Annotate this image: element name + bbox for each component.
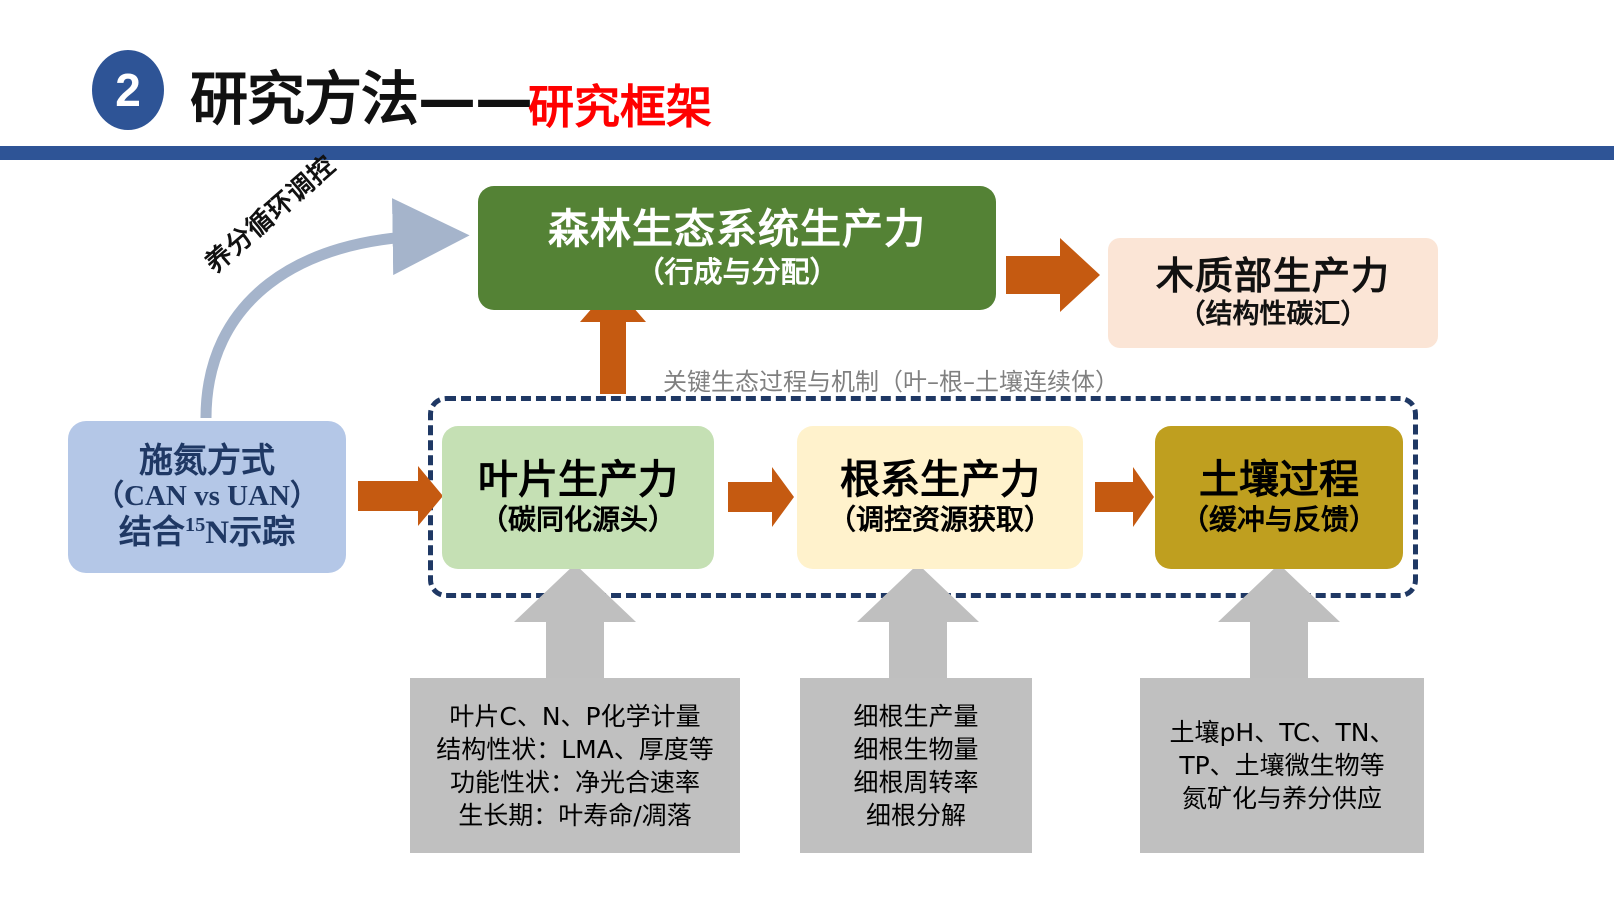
detail-soil-line-1: 土壤pH、TC、TN、 (1170, 716, 1395, 749)
detail-leaf-line-1: 叶片C、N、P化学计量 (449, 700, 700, 733)
isotope-superscript: 15 (185, 514, 205, 536)
detail-box-soil: 土壤pH、TC、TN、 TP、土壤微生物等 氮矿化与养分供应 (1140, 678, 1424, 853)
node-leaf-subtitle: （碳同化源头） (480, 504, 676, 535)
detail-leaf-line-2: 结构性状：LMA、厚度等 (436, 733, 714, 766)
node-xylem-title: 木质部生产力 (1156, 256, 1390, 297)
node-nitrogen-tracer: 结合15N示踪 (119, 514, 295, 551)
slide-canvas: 2 研究方法—— 研究框架 关键生态过程与机制（叶–根–土壤连续体） (0, 0, 1614, 906)
detail-box-leaf: 叶片C、N、P化学计量 结构性状：LMA、厚度等 功能性状：净光合速率 生长期：… (410, 678, 740, 853)
node-xylem-subtitle: （结构性碳汇） (1179, 300, 1368, 330)
detail-root-line-4: 细根分解 (866, 799, 966, 832)
header-divider (0, 146, 1614, 160)
detail-root-line-1: 细根生产量 (853, 700, 978, 733)
node-root-title: 根系生产力 (840, 459, 1040, 502)
node-root-subtitle: （调控资源获取） (828, 504, 1052, 535)
node-nitrogen-treatments: （CAN vs UAN） (95, 480, 319, 513)
node-ecosystem-subtitle: （行成与分配） (635, 256, 838, 288)
page-title: 研究方法—— 研究框架 (190, 52, 712, 136)
detail-soil-line-3: 氮矿化与养分供应 (1182, 782, 1382, 815)
nutrient-cycle-curve-arrow (206, 236, 430, 418)
key-process-group-label: 关键生态过程与机制（叶–根–土壤连续体） (663, 362, 1119, 397)
node-soil-subtitle: （缓冲与反馈） (1181, 504, 1377, 535)
detail-root-line-3: 细根周转率 (853, 766, 978, 799)
section-number-badge: 2 (92, 50, 164, 130)
node-nitrogen-title: 施氮方式 (139, 443, 275, 480)
arrow-ecosystem-to-xylem (1006, 238, 1100, 312)
node-leaf-title: 叶片生产力 (478, 459, 678, 502)
node-root-productivity[interactable]: 根系生产力 （调控资源获取） (797, 426, 1083, 569)
nutrient-cycle-arrow-label: 养分循环调控 (196, 146, 343, 280)
node-leaf-productivity[interactable]: 叶片生产力 （碳同化源头） (442, 426, 714, 569)
node-soil-title: 土壤过程 (1199, 459, 1359, 502)
detail-box-root: 细根生产量 细根生物量 细根周转率 细根分解 (800, 678, 1032, 853)
detail-soil-line-2: TP、土壤微生物等 (1179, 749, 1384, 782)
page-title-accent: 研究框架 (528, 71, 712, 137)
detail-leaf-line-4: 生长期：叶寿命/凋落 (458, 799, 691, 832)
isotope-element: N (205, 515, 229, 551)
detail-root-line-2: 细根生物量 (853, 733, 978, 766)
node-ecosystem-title: 森林生态系统生产力 (548, 207, 926, 251)
node-soil-process[interactable]: 土壤过程 （缓冲与反馈） (1155, 426, 1403, 569)
page-title-main: 研究方法—— (190, 52, 532, 136)
node-nitrogen-tracer-post: 示踪 (229, 512, 295, 551)
detail-leaf-line-3: 功能性状：净光合速率 (450, 766, 700, 799)
node-nitrogen-treatment[interactable]: 施氮方式 （CAN vs UAN） 结合15N示踪 (68, 421, 346, 573)
node-nitrogen-tracer-pre: 结合 (119, 512, 185, 551)
node-ecosystem-productivity[interactable]: 森林生态系统生产力 （行成与分配） (478, 186, 996, 310)
node-xylem-productivity[interactable]: 木质部生产力 （结构性碳汇） (1108, 238, 1438, 348)
